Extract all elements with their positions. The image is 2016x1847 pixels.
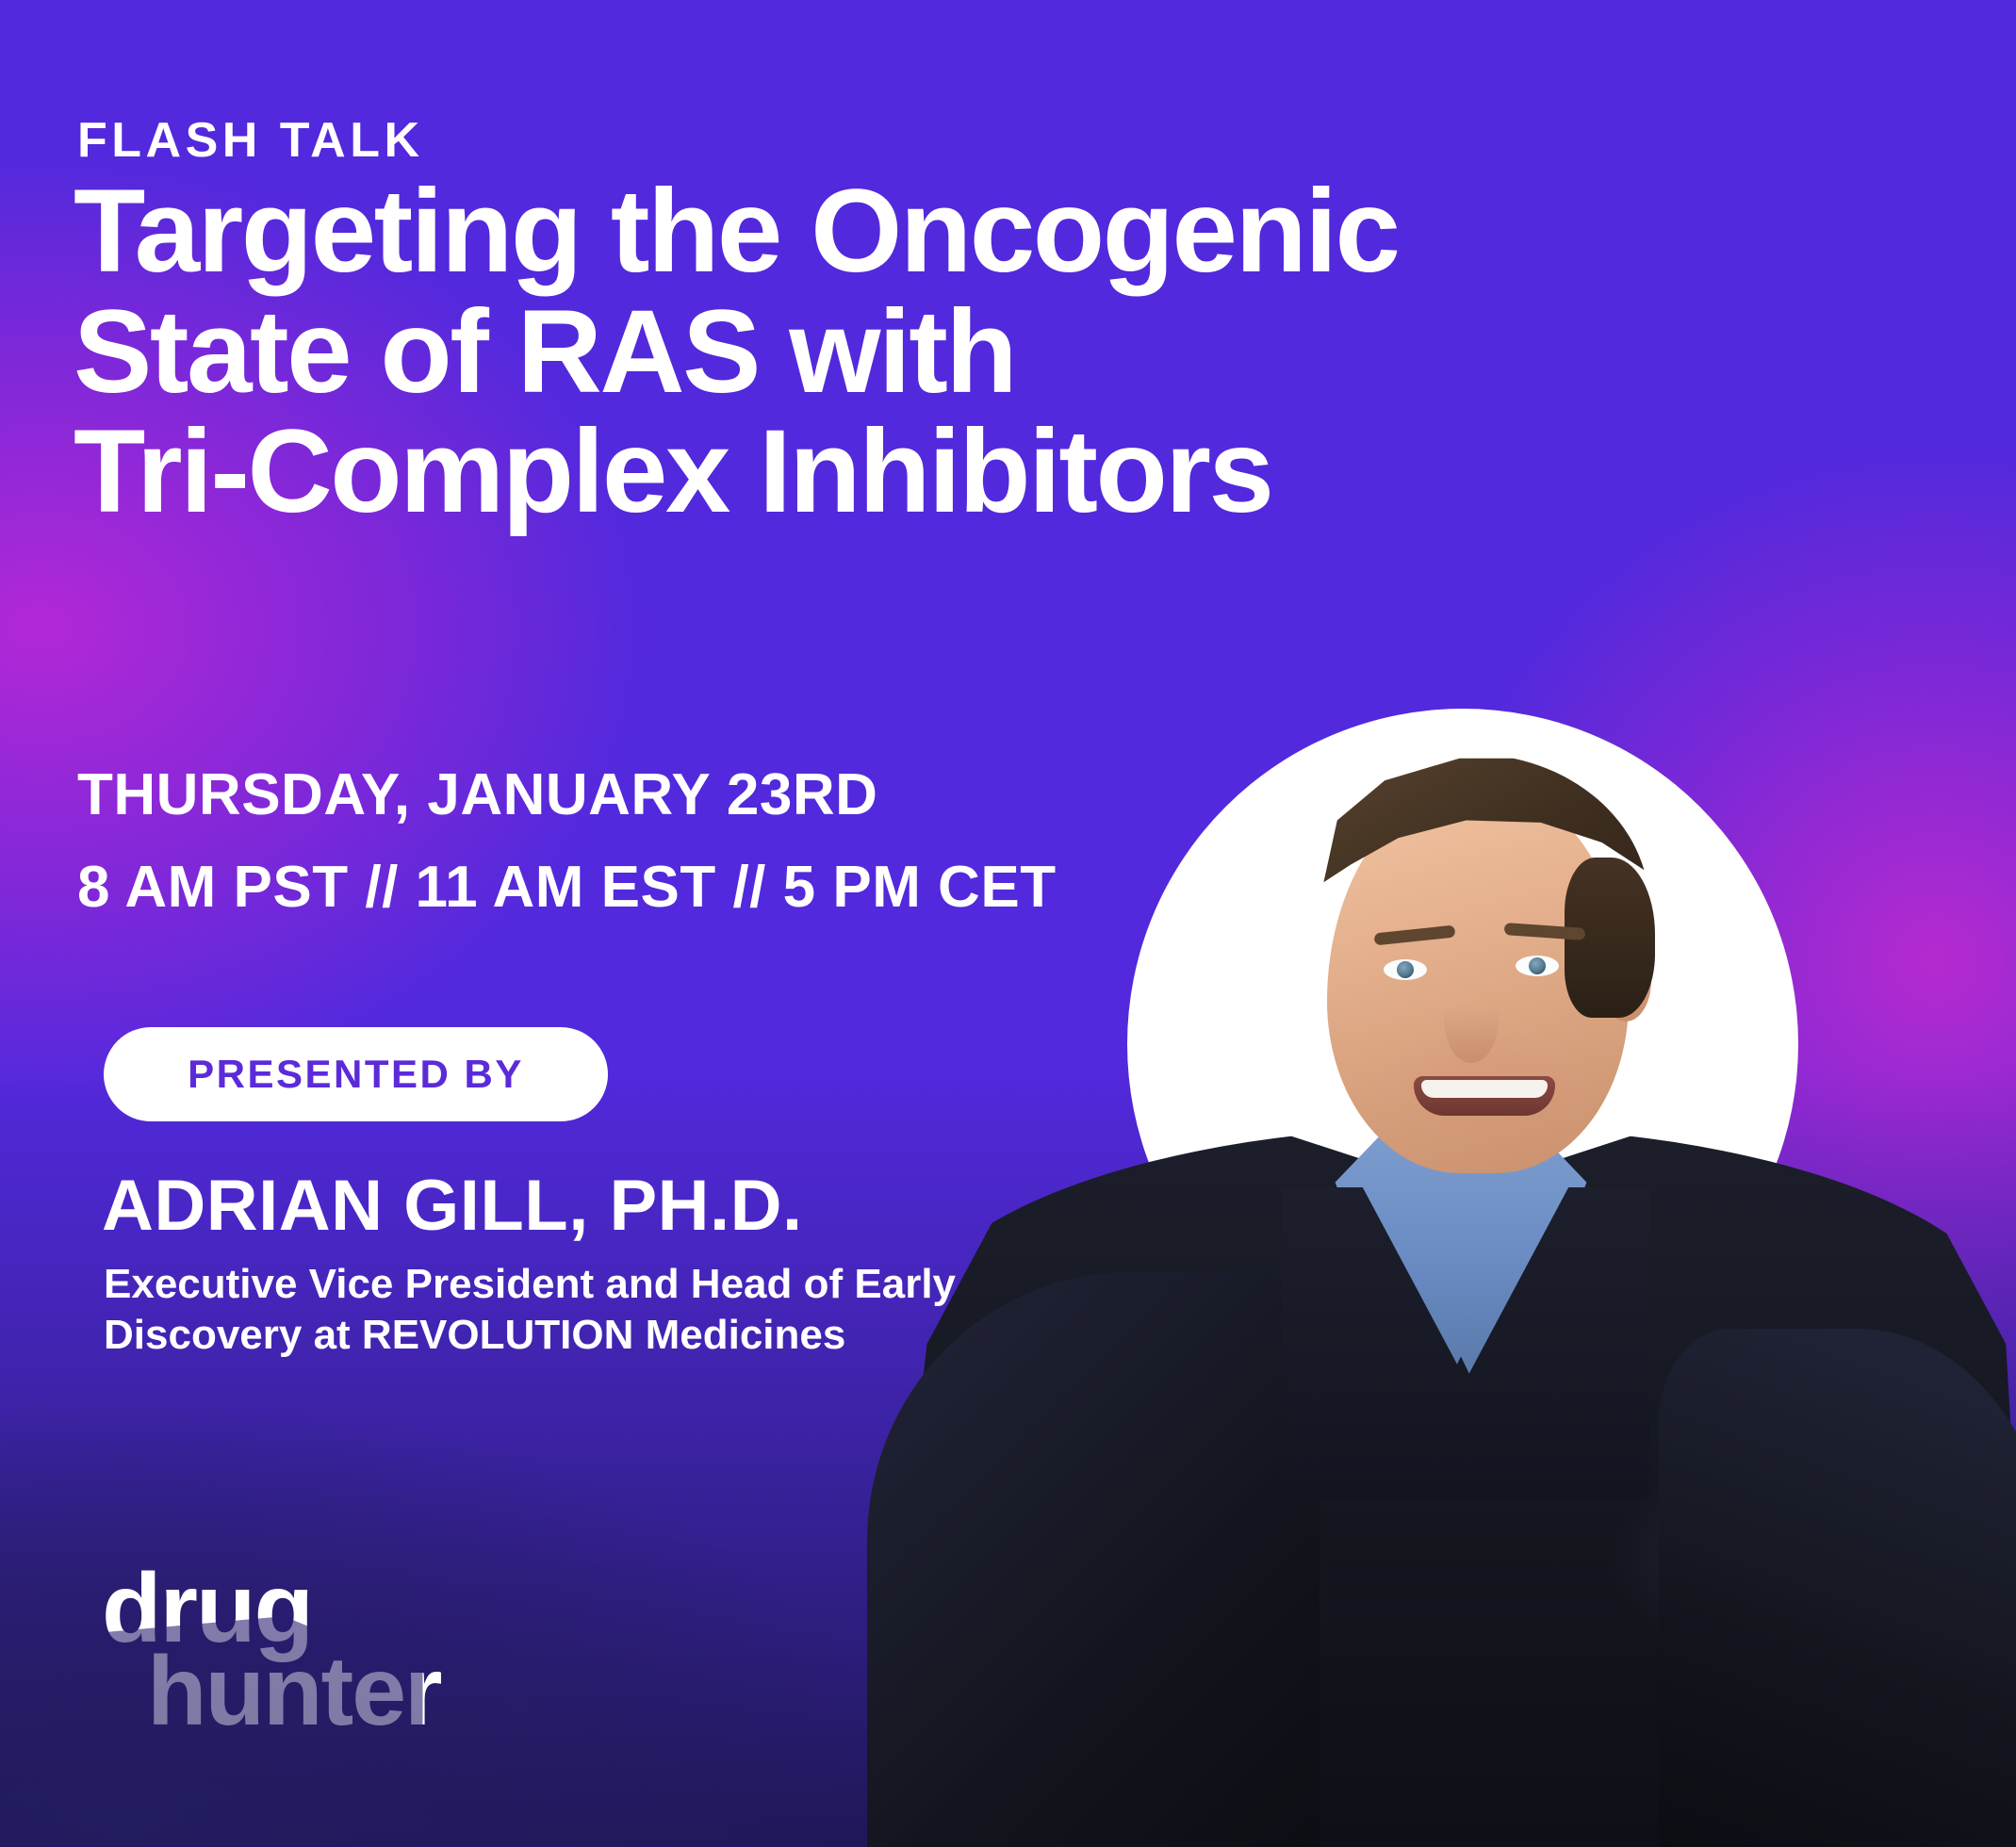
speaker-role-line-1: Executive Vice President and Head of Ear… bbox=[104, 1259, 1074, 1310]
speaker-role: Executive Vice President and Head of Ear… bbox=[104, 1259, 1074, 1360]
talk-title: Targeting the Oncogenic State of RAS wit… bbox=[74, 172, 1949, 532]
drug-hunter-logo: drug hunter drug hunter drug hunter bbox=[102, 1560, 535, 1762]
presented-by-label: PRESENTED BY bbox=[188, 1052, 524, 1097]
speaker-role-line-2: Discovery at REVOLUTION Medicines bbox=[104, 1310, 1074, 1361]
talk-title-line-2: State of RAS with bbox=[74, 292, 1949, 413]
eyebrow-label: FLASH TALK bbox=[77, 112, 424, 169]
webinar-promo-poster: FLASH TALK Targeting the Oncogenic State… bbox=[0, 0, 2016, 1847]
talk-title-line-3: Tri-Complex Inhibitors bbox=[74, 412, 1949, 532]
speaker-name: ADRIAN GILL, PH.D. bbox=[102, 1165, 803, 1247]
presented-by-badge: PRESENTED BY bbox=[104, 1027, 608, 1121]
talk-title-line-1: Targeting the Oncogenic bbox=[74, 172, 1949, 292]
event-date: THURSDAY, JANUARY 23RD bbox=[77, 761, 877, 828]
event-time-zones: 8 AM PST // 11 AM EST // 5 PM CET bbox=[77, 854, 1057, 921]
poster-content: FLASH TALK Targeting the Oncogenic State… bbox=[0, 0, 2016, 1847]
